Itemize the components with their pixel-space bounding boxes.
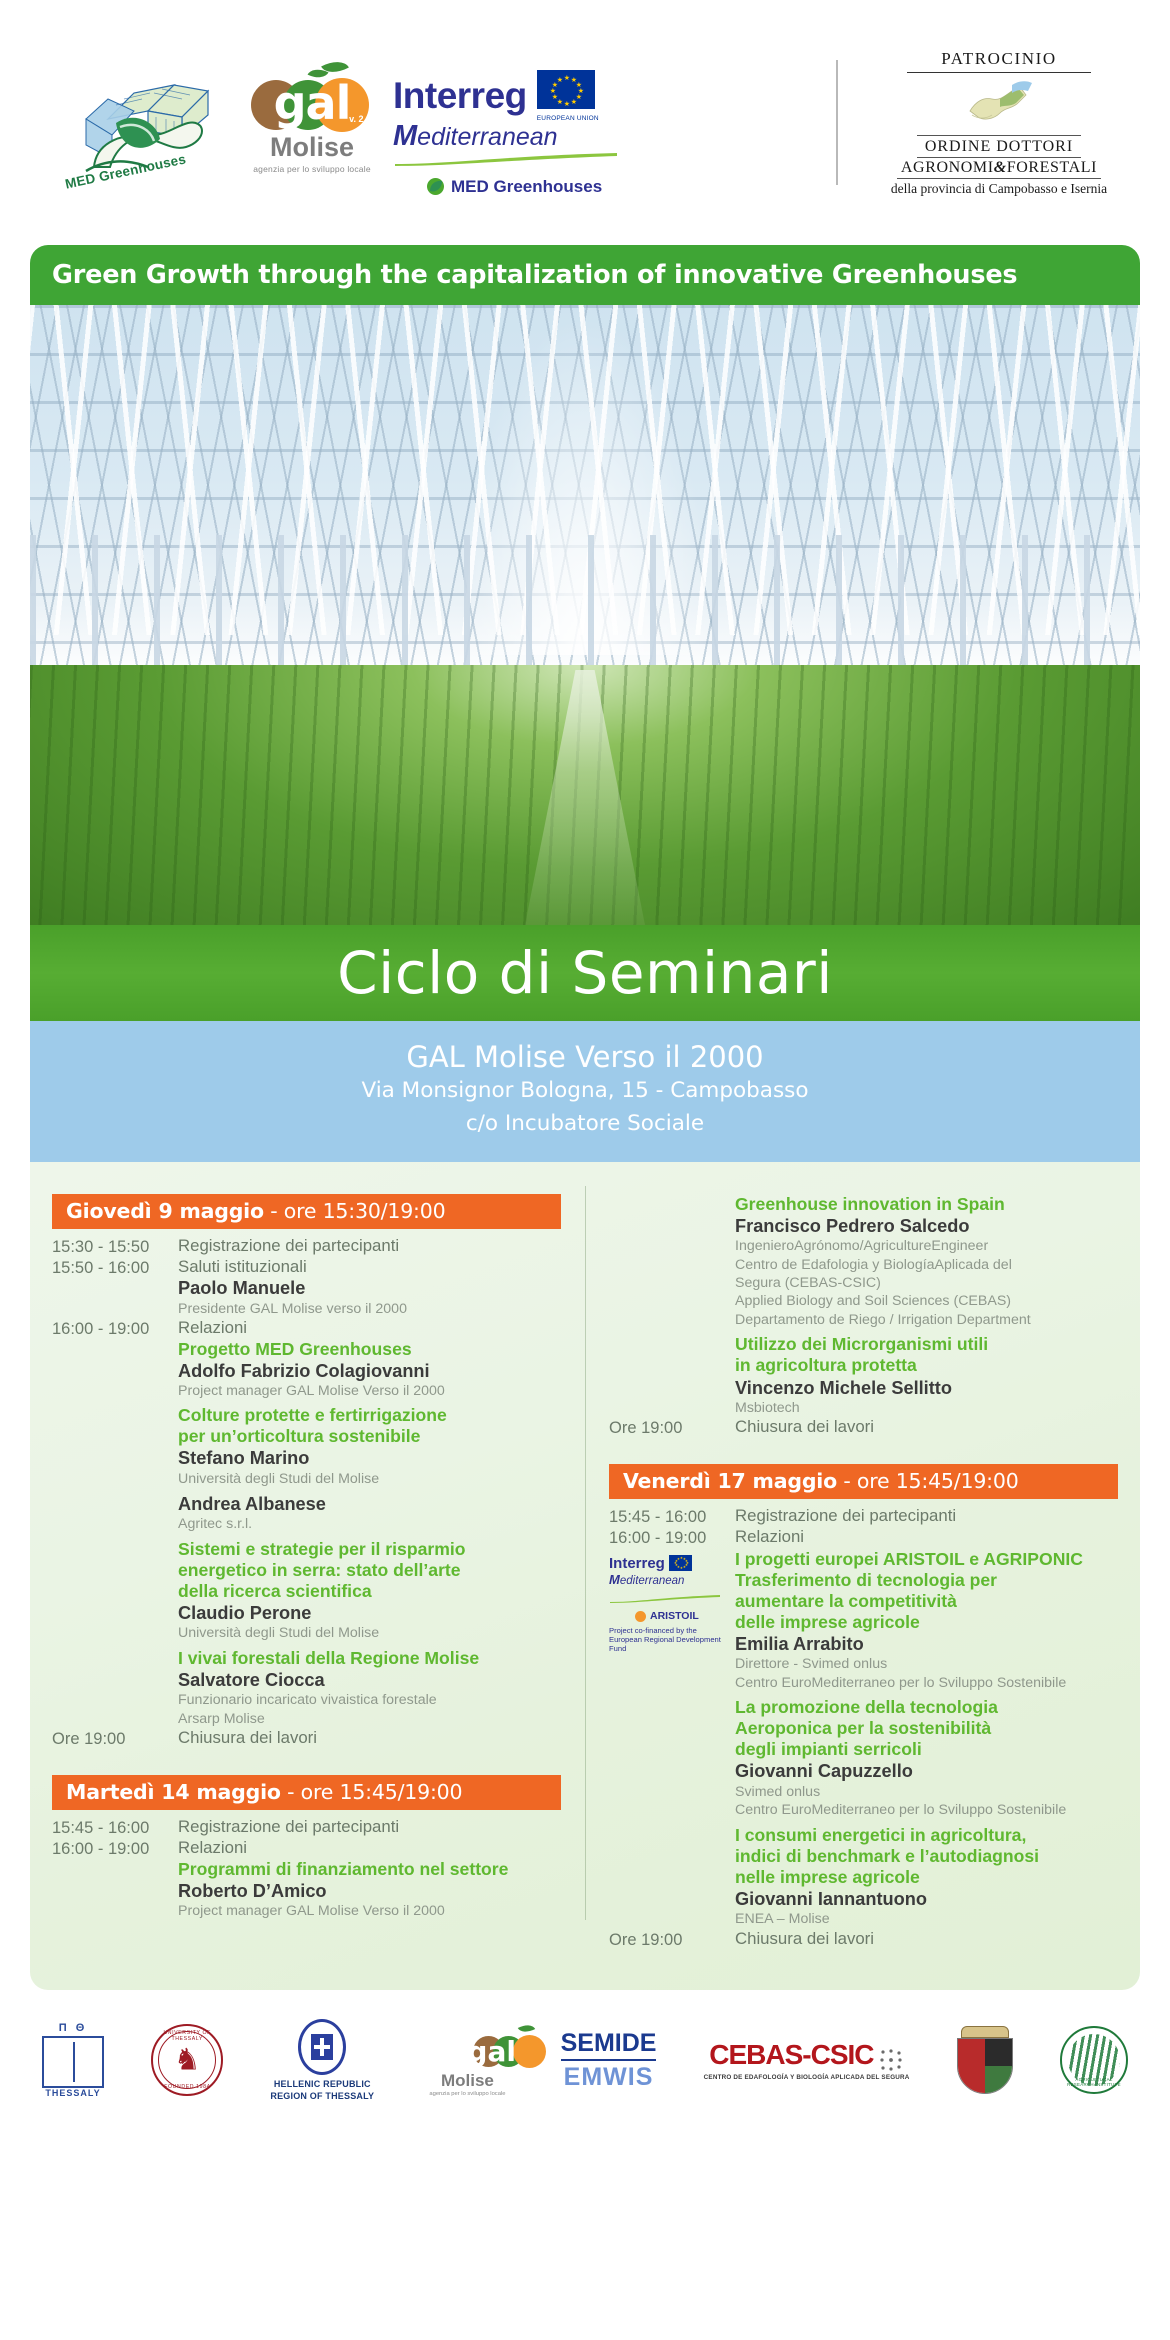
footer-logo-university-of-thessaly-seal: UNIVERSITY OF THESSALY ♞ FOUNDED 1984 bbox=[151, 2024, 223, 2096]
seal-icon: UNIVERSITY OF THESSALY ♞ FOUNDED 1984 bbox=[151, 2024, 223, 2096]
program-row-time: Ore 19:00 bbox=[609, 1929, 735, 1950]
hellenic-crest-icon bbox=[298, 2019, 346, 2075]
green-banner: Green Growth through the capitalization … bbox=[30, 245, 1140, 305]
talk-title: indici di benchmark e l’autodiagnosi bbox=[735, 1846, 1118, 1867]
speaker-affiliation: Arsarp Molise bbox=[178, 1710, 561, 1728]
day-header-hours: - ore 15:45/19:00 bbox=[281, 1780, 463, 1804]
talk-title: La promozione della tecnologia bbox=[735, 1697, 1118, 1718]
header-logo-bar: MED Greenhouses gal v. 2.0 Molise agenzi… bbox=[0, 0, 1170, 245]
footer-logo-agricultural-research-institute: AGRICULTURAL RESEARCH INSTITUTE bbox=[1060, 2026, 1128, 2094]
speaker-name: Claudio Perone bbox=[178, 1602, 561, 1624]
day-header: Giovedì 9 maggio - ore 15:30/19:00 bbox=[52, 1194, 561, 1229]
venue-address: Via Monsignor Bologna, 15 - Campobasso bbox=[30, 1075, 1140, 1107]
speaker-name: Andrea Albanese bbox=[178, 1493, 561, 1515]
patrocinio-line2: AGRONOMI&FORESTALI bbox=[897, 158, 1101, 179]
hellenic-label-line2: REGION OF THESSALY bbox=[270, 2091, 374, 2101]
program-item-label: Relazioni bbox=[178, 1318, 561, 1338]
program-item-label: Registrazione dei partecipanti bbox=[178, 1817, 561, 1837]
interreg-swoosh-icon-mini bbox=[609, 1594, 721, 1603]
aristoil-logo: ARISTOIL bbox=[609, 1610, 727, 1623]
program-row-content: Registrazione dei partecipanti bbox=[178, 1817, 561, 1837]
interreg-med-greenhouses-label: MED Greenhouses bbox=[451, 177, 602, 197]
patrocinio-ampersand: & bbox=[994, 159, 1007, 176]
program-row-time: Ore 19:00 bbox=[52, 1728, 178, 1749]
program-row-time: 16:00 - 19:00 bbox=[52, 1318, 178, 1339]
speaker-name: Giovanni Iannantuono bbox=[735, 1888, 1118, 1910]
speaker-name: Francisco Pedrero Salcedo bbox=[735, 1215, 1118, 1237]
crest-quarter-2 bbox=[985, 2039, 1012, 2066]
patrocinio-line3: della provincia di Campobasso e Isernia bbox=[891, 181, 1107, 197]
spacer bbox=[52, 1749, 561, 1775]
crest-quarter-3 bbox=[958, 2066, 985, 2093]
talk-title: Aeroponica per la sostenibilità bbox=[735, 1718, 1118, 1739]
interreg-swoosh-icon bbox=[393, 152, 618, 166]
speaker-affiliation: Segura (CEBAS-CSIC) bbox=[735, 1274, 1118, 1292]
speaker-affiliation: Project manager GAL Molise Verso il 2000 bbox=[178, 1382, 561, 1400]
talk-title: della ricerca scientifica bbox=[178, 1581, 561, 1602]
program-row-content: Greenhouse innovation in SpainFrancisco … bbox=[735, 1194, 1118, 1417]
uth-greek-letters: Π Θ bbox=[59, 2022, 88, 2034]
program-row-content: Registrazione dei partecipanti bbox=[735, 1506, 1118, 1526]
speaker-name: Roberto D’Amico bbox=[178, 1880, 561, 1902]
program-row: 15:45 - 16:00Registrazione dei partecipa… bbox=[52, 1817, 561, 1838]
talk-title: Progetto MED Greenhouses bbox=[178, 1339, 561, 1360]
talk-title: I consumi energetici in agricoltura, bbox=[735, 1825, 1118, 1846]
aristoil-olive-icon bbox=[635, 1611, 646, 1622]
talk-title: Programmi di finanziamento nel settore bbox=[178, 1859, 561, 1880]
gal-version: v. 2.0 bbox=[349, 114, 371, 124]
speaker-affiliation: Agritec s.r.l. bbox=[178, 1515, 561, 1533]
speaker-name: Emilia Arrabito bbox=[735, 1633, 1118, 1655]
page-title: Ciclo di Seminari bbox=[337, 939, 833, 1007]
program-row: Ore 19:00Chiusura dei lavori bbox=[52, 1728, 561, 1749]
program-row-time bbox=[609, 1194, 735, 1195]
talk-title: Greenhouse innovation in Spain bbox=[735, 1194, 1118, 1215]
patrocinio-agronomi: AGRONOMI bbox=[901, 159, 994, 176]
footer-logo-municipality bbox=[957, 2026, 1013, 2094]
molise-map-icon bbox=[962, 77, 1036, 133]
crest-quarter-1 bbox=[958, 2039, 985, 2066]
program-item-label: Registrazione dei partecipanti bbox=[735, 1506, 1118, 1526]
program-row: Ore 19:00Chiusura dei lavori bbox=[609, 1417, 1118, 1438]
talk-title: Trasferimento di tecnologia per bbox=[735, 1570, 1118, 1591]
partner-logo-group: MED Greenhouses gal v. 2.0 Molise agenzi… bbox=[26, 48, 826, 198]
gal-molise-logo: gal v. 2.0 Molise agenzia per lo svilupp… bbox=[237, 58, 387, 188]
poster-body: Green Growth through the capitalization … bbox=[30, 245, 1140, 1990]
footer-logo-semide-emwis: SEMIDE EMWIS bbox=[561, 2029, 657, 2092]
program-row-time: 15:50 - 16:00 bbox=[52, 1257, 178, 1278]
program-row-content: I progetti europei ARISTOIL e AGRIPONICT… bbox=[735, 1549, 1118, 1929]
eu-flag-icon: ★ ★ ★ ★ ★ ★ ★ ★ ★ ★ ★ ★ bbox=[537, 70, 595, 109]
speaker-affiliation: Departamento de Riego / Irrigation Depar… bbox=[735, 1311, 1118, 1329]
seal-top-text: UNIVERSITY OF THESSALY bbox=[153, 2030, 221, 2042]
day-header-date: Giovedì 9 maggio bbox=[66, 1199, 264, 1223]
program-row-time: 15:45 - 16:00 bbox=[609, 1506, 735, 1527]
speaker-affiliation: Svimed onlus bbox=[735, 1783, 1118, 1801]
program-row: 15:45 - 16:00Registrazione dei partecipa… bbox=[609, 1506, 1118, 1527]
program-row-content: Relazioni bbox=[735, 1527, 1118, 1547]
program-item-label: Chiusura dei lavori bbox=[735, 1929, 1118, 1949]
program-column-left: Giovedì 9 maggio - ore 15:30/19:0015:30 … bbox=[30, 1194, 585, 1950]
day-header-date: Venerdì 17 maggio bbox=[623, 1469, 837, 1493]
talk-title: energetico in serra: stato dell’arte bbox=[178, 1560, 561, 1581]
program-item-label: Relazioni bbox=[178, 1838, 561, 1858]
talk-title: delle imprese agricole bbox=[735, 1612, 1118, 1633]
patrocinio-block: PATROCINIO ORDINE DOTTORI AGRONOMI&FORES… bbox=[854, 49, 1144, 197]
day-header-hours: - ore 15:30/19:00 bbox=[264, 1199, 446, 1223]
gal-wordmark-footer: Molise bbox=[441, 2072, 494, 2089]
patrocinio-title: PATROCINIO bbox=[907, 49, 1091, 73]
program-row: Interreg★★★★★★★★★★★★MediterraneanARISTOI… bbox=[609, 1549, 1118, 1929]
erdf-disclaimer: Project co-financed by the European Regi… bbox=[609, 1626, 727, 1653]
eu-flag-icon-mini: ★★★★★★★★★★★★ bbox=[669, 1555, 692, 1571]
speaker-affiliation: Applied Biology and Soil Sciences (CEBAS… bbox=[735, 1292, 1118, 1310]
open-book-icon bbox=[42, 2036, 104, 2088]
talk-title: per un’orticoltura sostenibile bbox=[178, 1426, 561, 1447]
crest-quarter-4 bbox=[985, 2066, 1012, 2093]
program-row-content: Chiusura dei lavori bbox=[735, 1929, 1118, 1949]
talk-title: degli impianti serricoli bbox=[735, 1739, 1118, 1760]
program-column-right: Greenhouse innovation in SpainFrancisco … bbox=[585, 1194, 1140, 1950]
talk-title: nelle imprese agricole bbox=[735, 1867, 1118, 1888]
speaker-affiliation: Università degli Studi del Molise bbox=[178, 1624, 561, 1642]
patrocinio-line1: ORDINE DOTTORI bbox=[917, 135, 1081, 158]
program-row-content: Registrazione dei partecipanti bbox=[178, 1236, 561, 1256]
program-row-content: Chiusura dei lavori bbox=[735, 1417, 1118, 1437]
gal-tagline: agenzia per lo sviluppo locale bbox=[237, 164, 387, 174]
program-row-content: RelazioniProgrammi di finanziamento nel … bbox=[178, 1838, 561, 1920]
footer-logo-university-of-thessaly-book: Π Θ THESSALY bbox=[42, 2022, 104, 2098]
venue-band: GAL Molise Verso il 2000 Via Monsignor B… bbox=[30, 1021, 1140, 1162]
speaker-affiliation: IngenieroAgrónomo/AgricultureEngineer bbox=[735, 1237, 1118, 1255]
speaker-affiliation: Centro de Edafologia y BiologíaAplicada … bbox=[735, 1256, 1118, 1274]
day-header-date: Martedì 14 maggio bbox=[66, 1780, 281, 1804]
med-greenhouses-logo: MED Greenhouses bbox=[56, 63, 231, 183]
speaker-affiliation: ENEA – Molise bbox=[735, 1910, 1118, 1928]
interreg-mediterranean-logo: Interreg ★ ★ ★ ★ ★ ★ ★ ★ ★ ★ ★ ★ bbox=[393, 58, 663, 188]
footer-logo-hellenic-republic: HELLENIC REPUBLIC REGION OF THESSALY bbox=[270, 2019, 374, 2102]
day-header: Venerdì 17 maggio - ore 15:45/19:00 bbox=[609, 1464, 1118, 1499]
program-row-content: Saluti istituzionaliPaolo ManuelePreside… bbox=[178, 1257, 561, 1318]
program-row: Greenhouse innovation in SpainFrancisco … bbox=[609, 1194, 1118, 1417]
program-item-label: Chiusura dei lavori bbox=[178, 1728, 561, 1748]
program-row-content: RelazioniProgetto MED GreenhousesAdolfo … bbox=[178, 1318, 561, 1728]
banner-text: Green Growth through the capitalization … bbox=[52, 260, 1017, 290]
talk-title: I vivai forestali della Regione Molise bbox=[178, 1648, 561, 1669]
speaker-affiliation: Direttore - Svimed onlus bbox=[735, 1655, 1118, 1673]
gal-mark-icon: gal v. 2.0 bbox=[237, 58, 387, 136]
program-row-time: 16:00 - 19:00 bbox=[609, 1527, 735, 1548]
program-row-time: 16:00 - 19:00 bbox=[52, 1838, 178, 1859]
program-row-time: 15:45 - 16:00 bbox=[52, 1817, 178, 1838]
program-row-time: 15:30 - 15:50 bbox=[52, 1236, 178, 1257]
talk-title: Colture protette e fertirrigazione bbox=[178, 1405, 561, 1426]
speaker-name: Adolfo Fabrizio Colagiovanni bbox=[178, 1360, 561, 1382]
centaur-icon: ♞ bbox=[174, 2043, 201, 2078]
crest-shield bbox=[957, 2038, 1013, 2094]
csic-mark-icon bbox=[878, 2047, 904, 2073]
speaker-affiliation: Msbiotech bbox=[735, 1399, 1118, 1417]
program-row-time: Ore 19:00 bbox=[609, 1417, 735, 1438]
cebas-wordmark: CEBAS-CSIC bbox=[709, 2039, 873, 2070]
venue-location: c/o Incubatore Sociale bbox=[30, 1108, 1140, 1140]
crest-crown bbox=[961, 2026, 1009, 2038]
interreg-mediterranean-wordmark: Mediterranean bbox=[393, 120, 663, 153]
speaker-affiliation: Centro EuroMediterraneo per lo Sviluppo … bbox=[735, 1801, 1118, 1819]
day-header: Martedì 14 maggio - ore 15:45/19:00 bbox=[52, 1775, 561, 1810]
semide-line1: SEMIDE bbox=[561, 2029, 657, 2061]
spacer bbox=[609, 1438, 1118, 1464]
gal-leaf-icon-footer bbox=[518, 2021, 535, 2036]
cebas-subtitle: CENTRO DE EDAFOLOGÍA Y BIOLOGÍA APLICADA… bbox=[704, 2074, 910, 2081]
speaker-name: Paolo Manuele bbox=[178, 1277, 561, 1299]
speaker-affiliation: Project manager GAL Molise Verso il 2000 bbox=[178, 1902, 561, 1920]
program-row: 16:00 - 19:00RelazioniProgrammi di finan… bbox=[52, 1838, 561, 1920]
gal-tagline-footer: agenzia per lo sviluppo locale bbox=[429, 2091, 505, 2097]
aristoil-label: ARISTOIL bbox=[650, 1610, 699, 1623]
interreg-wordmark-mini: Interreg bbox=[609, 1555, 665, 1573]
program-section: Giovedì 9 maggio - ore 15:30/19:0015:30 … bbox=[30, 1162, 1140, 1990]
program-row: 15:30 - 15:50Registrazione dei partecipa… bbox=[52, 1236, 561, 1257]
patrocinio-forestali: FORESTALI bbox=[1007, 159, 1097, 176]
talk-title: I progetti europei ARISTOIL e AGRIPONIC bbox=[735, 1549, 1118, 1570]
interreg-mediterranean-wordmark-mini: Mediterranean bbox=[609, 1572, 727, 1588]
program-row: 15:50 - 16:00Saluti istituzionaliPaolo M… bbox=[52, 1257, 561, 1318]
greek-cross-icon bbox=[311, 2034, 333, 2060]
municipality-crest-icon bbox=[957, 2026, 1013, 2094]
med-greenhouses-leaf-icon bbox=[427, 178, 444, 195]
gal-circle-orange-footer bbox=[513, 2035, 546, 2068]
program-row: Ore 19:00Chiusura dei lavori bbox=[609, 1929, 1118, 1950]
talk-title: aumentare la competitività bbox=[735, 1591, 1118, 1612]
speaker-affiliation: Funzionario incaricato vivaistica forest… bbox=[178, 1691, 561, 1709]
hellenic-label: HELLENIC REPUBLIC REGION OF THESSALY bbox=[270, 2078, 374, 2102]
footer-logo-cebas-csic: CEBAS-CSIC CENTRO DE EDAFOLOGÍA Y BIOLOG… bbox=[704, 2039, 910, 2081]
speaker-affiliation: Presidente GAL Molise verso il 2000 bbox=[178, 1300, 561, 1318]
med-m: M bbox=[393, 120, 417, 152]
talk-title: in agricoltura protetta bbox=[735, 1355, 1118, 1376]
header-divider bbox=[836, 60, 838, 185]
ari-label: AGRICULTURAL RESEARCH INSTITUTE bbox=[1062, 2077, 1126, 2087]
program-row-logo: Interreg★★★★★★★★★★★★MediterraneanARISTOI… bbox=[609, 1549, 735, 1654]
day-header-hours: - ore 15:45/19:00 bbox=[837, 1469, 1019, 1493]
program-item-label: Chiusura dei lavori bbox=[735, 1417, 1118, 1437]
speaker-name: Vincenzo Michele Sellitto bbox=[735, 1377, 1118, 1399]
program-row: 16:00 - 19:00RelazioniProgetto MED Green… bbox=[52, 1318, 561, 1728]
speaker-name: Stefano Marino bbox=[178, 1447, 561, 1469]
program-row-content: Chiusura dei lavori bbox=[178, 1728, 561, 1748]
talk-title: Utilizzo dei Microrganismi utili bbox=[735, 1334, 1118, 1355]
program-item-label: Saluti istituzionali bbox=[178, 1257, 561, 1277]
seal-bottom-text: FOUNDED 1984 bbox=[153, 2084, 221, 2090]
speaker-name: Giovanni Capuzzello bbox=[735, 1760, 1118, 1782]
footer-logo-bar: Π Θ THESSALY UNIVERSITY OF THESSALY ♞ FO… bbox=[0, 1990, 1170, 2125]
interreg-aristoil-mini-logo: Interreg★★★★★★★★★★★★MediterraneanARISTOI… bbox=[609, 1553, 727, 1654]
hellenic-label-line1: HELLENIC REPUBLIC bbox=[274, 2079, 371, 2089]
program-row: 16:00 - 19:00Relazioni bbox=[609, 1527, 1118, 1548]
venue-name: GAL Molise Verso il 2000 bbox=[30, 1039, 1140, 1075]
program-item-label: Relazioni bbox=[735, 1527, 1118, 1547]
med-rest: editerranean bbox=[417, 123, 557, 151]
footer-logo-gal-molise: gal Molise agenzia per lo sviluppo local… bbox=[421, 2024, 513, 2097]
gal-wordmark: Molise bbox=[237, 134, 387, 161]
speaker-affiliation: Università degli Studi del Molise bbox=[178, 1470, 561, 1488]
greenhouse-photo bbox=[30, 305, 1140, 925]
interreg-wordmark: Interreg bbox=[393, 75, 527, 117]
talk-title: Sistemi e strategie per il risparmio bbox=[178, 1539, 561, 1560]
uth-label: THESSALY bbox=[45, 2088, 100, 2098]
agricultural-research-icon: AGRICULTURAL RESEARCH INSTITUTE bbox=[1060, 2026, 1128, 2094]
speaker-affiliation: Centro EuroMediterraneo per lo Sviluppo … bbox=[735, 1674, 1118, 1692]
speaker-name: Salvatore Ciocca bbox=[178, 1669, 561, 1691]
semide-line2: EMWIS bbox=[564, 2063, 654, 2092]
program-item-label: Registrazione dei partecipanti bbox=[178, 1236, 561, 1256]
title-band: Ciclo di Seminari bbox=[30, 925, 1140, 1021]
